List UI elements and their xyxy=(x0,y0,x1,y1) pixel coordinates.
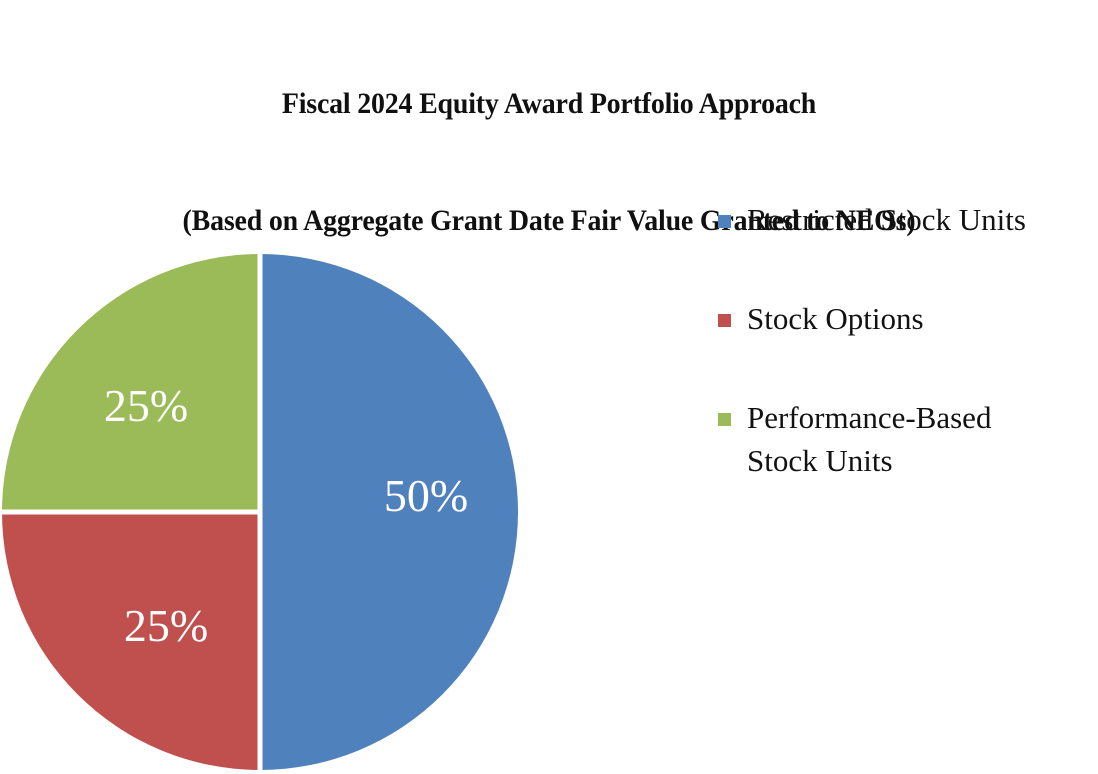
chart-legend: Restricted Stock Units Stock Options Per… xyxy=(716,198,1098,482)
legend-item-stock-options[interactable]: Stock Options xyxy=(716,297,1098,340)
legend-swatch-icon-restricted-stock-units xyxy=(718,215,731,228)
pie-slice-label-performance-based-stock-units: 25% xyxy=(104,383,188,429)
chart-page: Fiscal 2024 Equity Award Portfolio Appro… xyxy=(0,0,1098,774)
pie-slice-label-stock-options: 25% xyxy=(124,603,208,649)
legend-swatch-icon-performance-based-stock-units xyxy=(718,413,731,426)
legend-label-restricted-stock-units: Restricted Stock Units xyxy=(747,198,1098,241)
legend-item-restricted-stock-units[interactable]: Restricted Stock Units xyxy=(716,198,1098,241)
legend-swatch-icon-stock-options xyxy=(718,314,731,327)
legend-label-performance-based-stock-units: Performance-Based Stock Units xyxy=(747,396,1098,482)
pie-slice-label-restricted-stock-units: 50% xyxy=(384,473,468,519)
legend-item-performance-based-stock-units[interactable]: Performance-Based Stock Units xyxy=(716,396,1098,482)
legend-label-stock-options: Stock Options xyxy=(747,297,1098,340)
